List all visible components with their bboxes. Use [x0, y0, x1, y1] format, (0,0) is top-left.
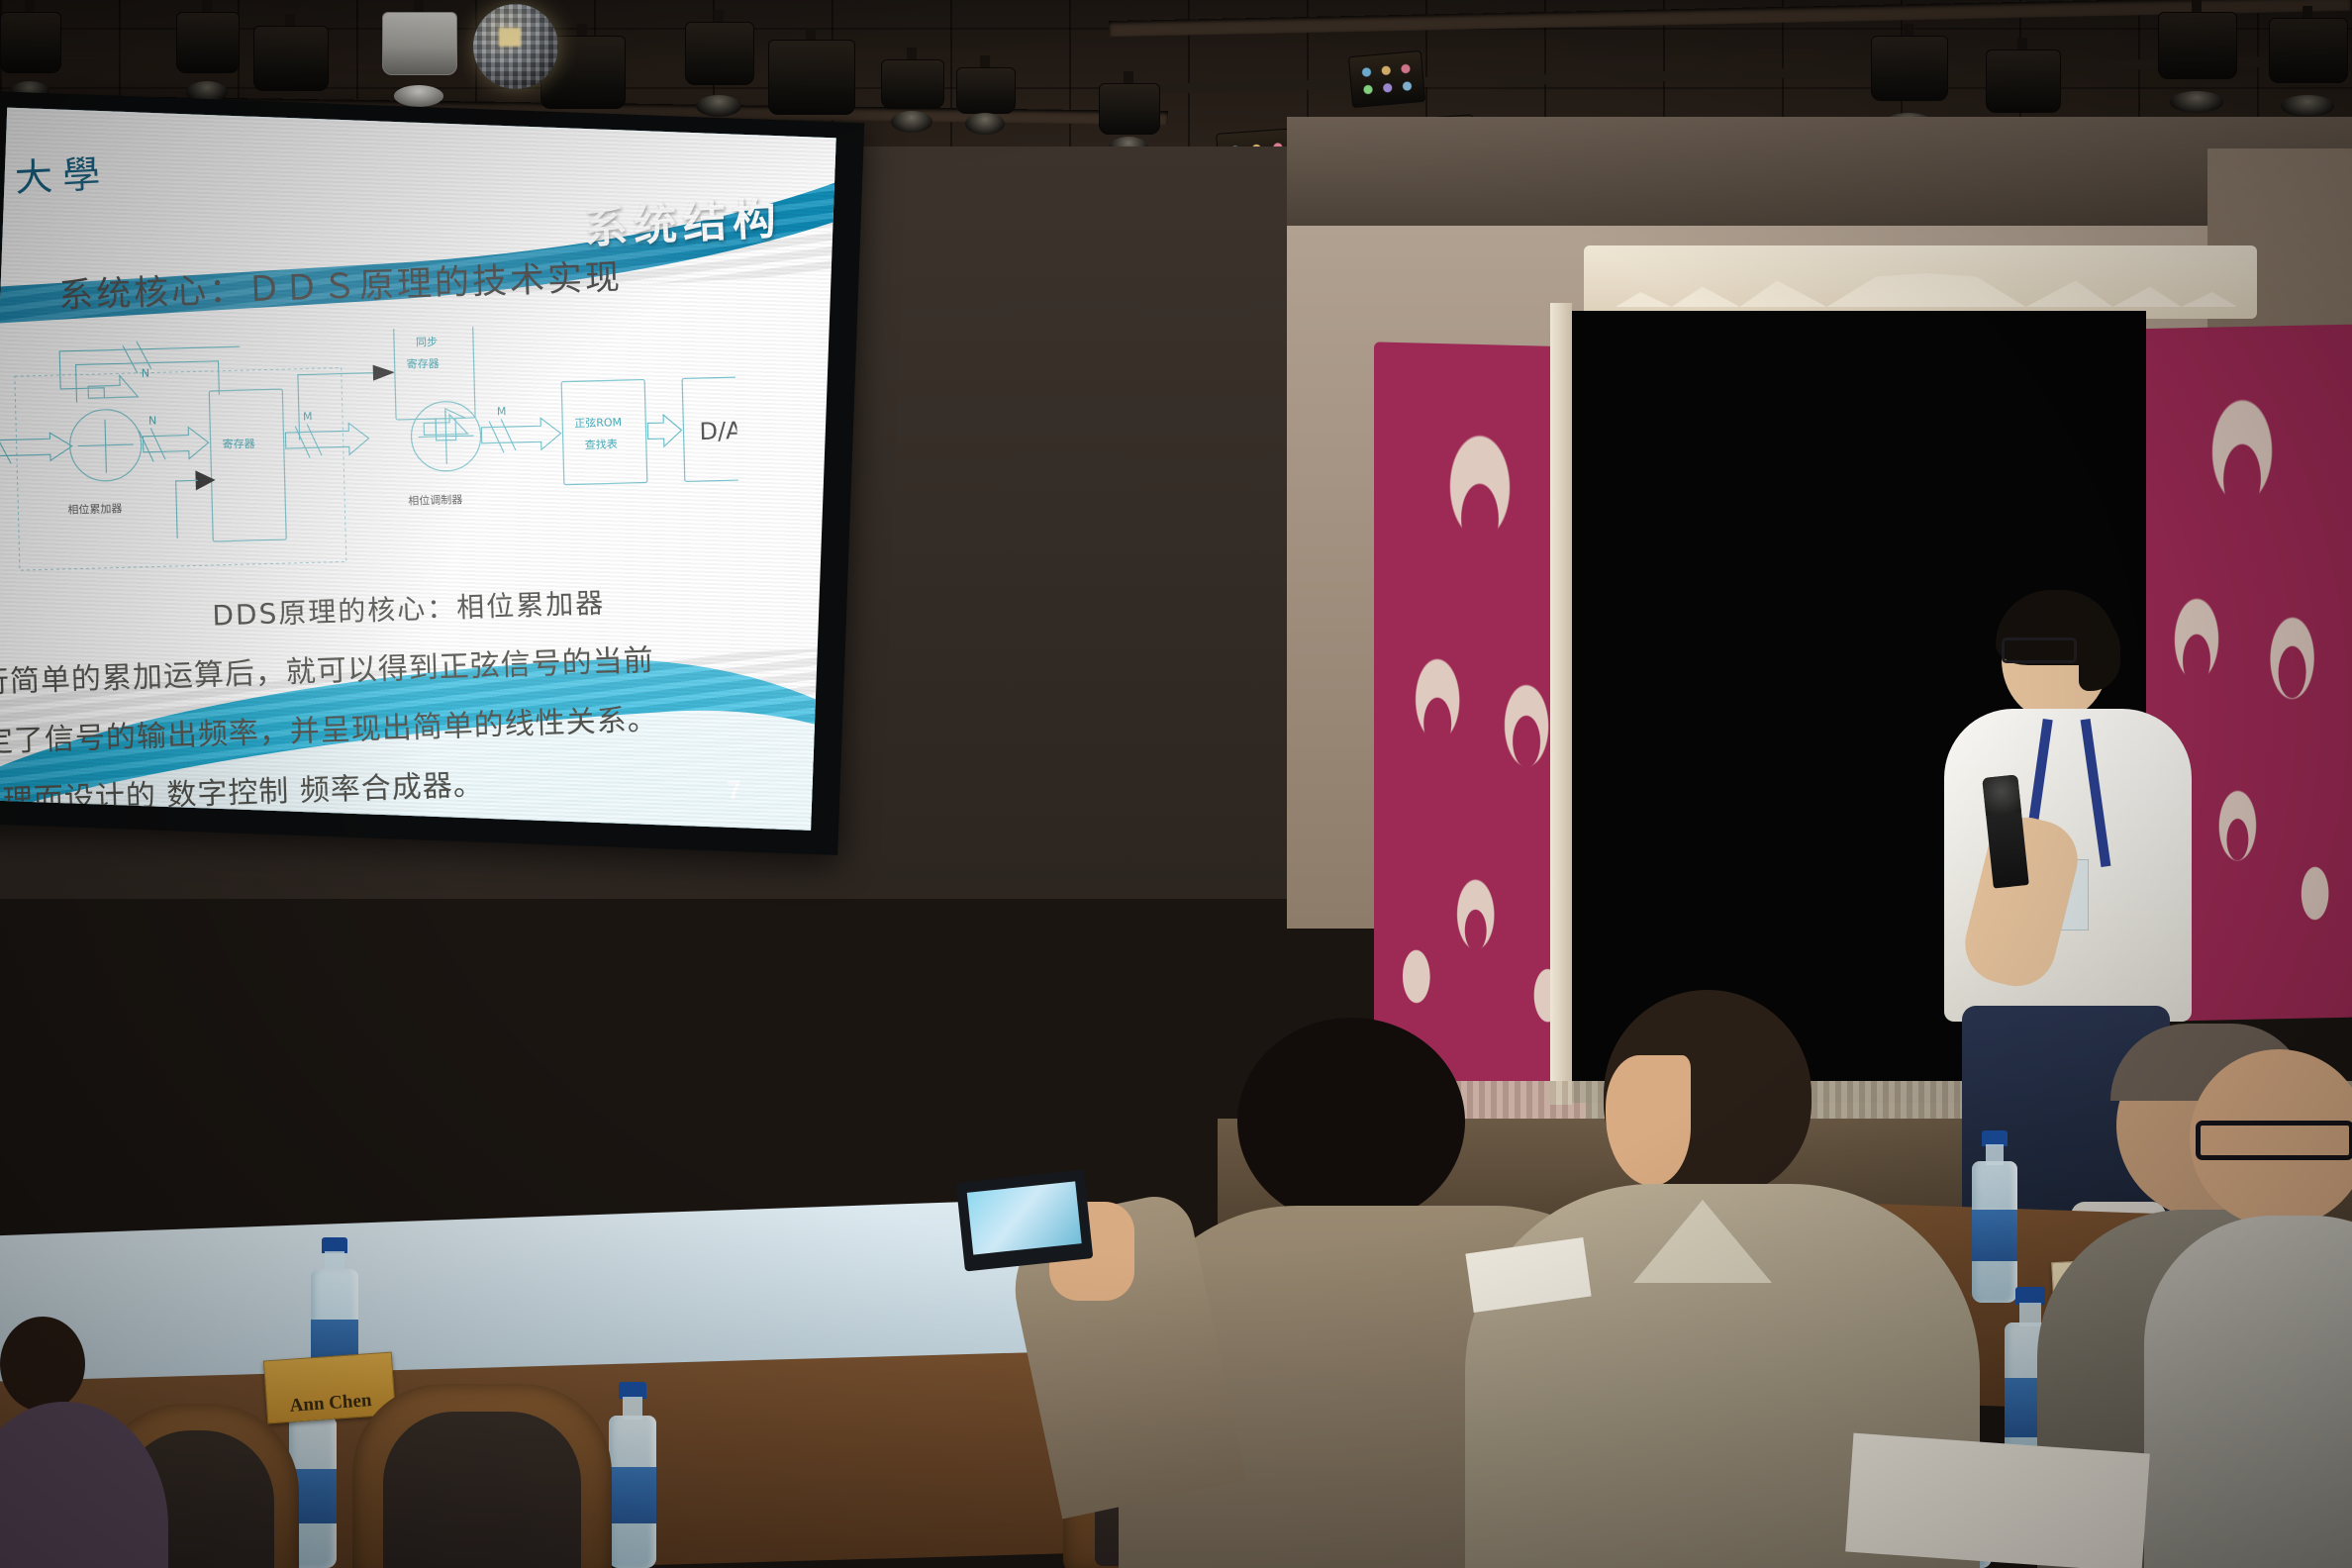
paper-sheet-2 [1845, 1433, 2150, 1568]
photographer-hair [1237, 1018, 1465, 1225]
slide-title: 系统结构 [582, 183, 783, 256]
stage-light-13 [2158, 0, 2235, 105]
far-right-torso [2144, 1216, 2352, 1568]
svg-text:M: M [303, 410, 313, 423]
presenter-hair-side [2079, 610, 2120, 691]
stage-light-10 [1099, 71, 1158, 150]
far-right-glasses [2196, 1121, 2352, 1160]
stage-light-14 [2269, 6, 2346, 109]
dds-block-diagram: 相位宽 N 相位累加器 N [0, 320, 740, 578]
stage-light-2 [176, 0, 238, 95]
audience-person-left-edge [0, 1317, 148, 1568]
svg-text:寄存器: 寄存器 [406, 356, 439, 371]
svg-text:N: N [148, 414, 157, 427]
svg-text:N: N [142, 367, 150, 380]
svg-text:查找表: 查找表 [585, 437, 618, 451]
stage-light-9 [956, 55, 1014, 127]
stage-light-4 [382, 0, 455, 99]
presentation-slide: 大學 系统结构 系统核心：ＤＤＳ原理的技术实现 相位宽 N [0, 108, 836, 831]
presentation-photo-scene: 大學 系统结构 系统核心：ＤＤＳ原理的技术实现 相位宽 N [0, 0, 2352, 1568]
par-light-4 [1348, 50, 1425, 108]
water-bottle-3 [604, 1382, 661, 1568]
stage-light-6 [685, 10, 752, 109]
svg-text:正弦ROM: 正弦ROM [574, 415, 622, 430]
audience-chair-2 [352, 1384, 612, 1568]
mirror-ball [473, 4, 558, 89]
svg-text:相位累加器: 相位累加器 [67, 501, 122, 516]
camera[interactable] [956, 1169, 1094, 1271]
university-logo-text: 大學 [14, 143, 112, 202]
slide-body-heading: DDS原理的核心：相位累加器 [0, 573, 836, 641]
svg-text:M: M [497, 405, 507, 418]
grey-suit-face [1606, 1055, 1691, 1186]
stage-light-1 [0, 0, 59, 95]
water-bottle-4 [1968, 1130, 2021, 1303]
audience-person-far-right-glasses [2174, 1049, 2352, 1568]
backdrop-inner-border [1550, 303, 1572, 1105]
hall-wall-upper-dark [1287, 117, 2352, 226]
svg-text:相位调制器: 相位调制器 [408, 492, 462, 507]
slide-page-number: 7 [726, 775, 741, 807]
stage-light-11 [1871, 24, 1946, 127]
stage-light-8 [881, 48, 942, 125]
slide-body-text: DDS原理的核心：相位累加器 量化值进行简单的累加运算后，就可以得到正弦信号的当… [0, 573, 836, 820]
projection-screen: 大學 系统结构 系统核心：ＤＤＳ原理的技术实现 相位宽 N [0, 91, 864, 855]
presenter-glasses [2002, 637, 2077, 663]
svg-text:寄存器: 寄存器 [223, 437, 255, 451]
svg-text:D/A: D/A [699, 417, 740, 445]
name-placard-left-text: Ann Chen [289, 1390, 373, 1421]
svg-text:同步: 同步 [416, 336, 438, 349]
